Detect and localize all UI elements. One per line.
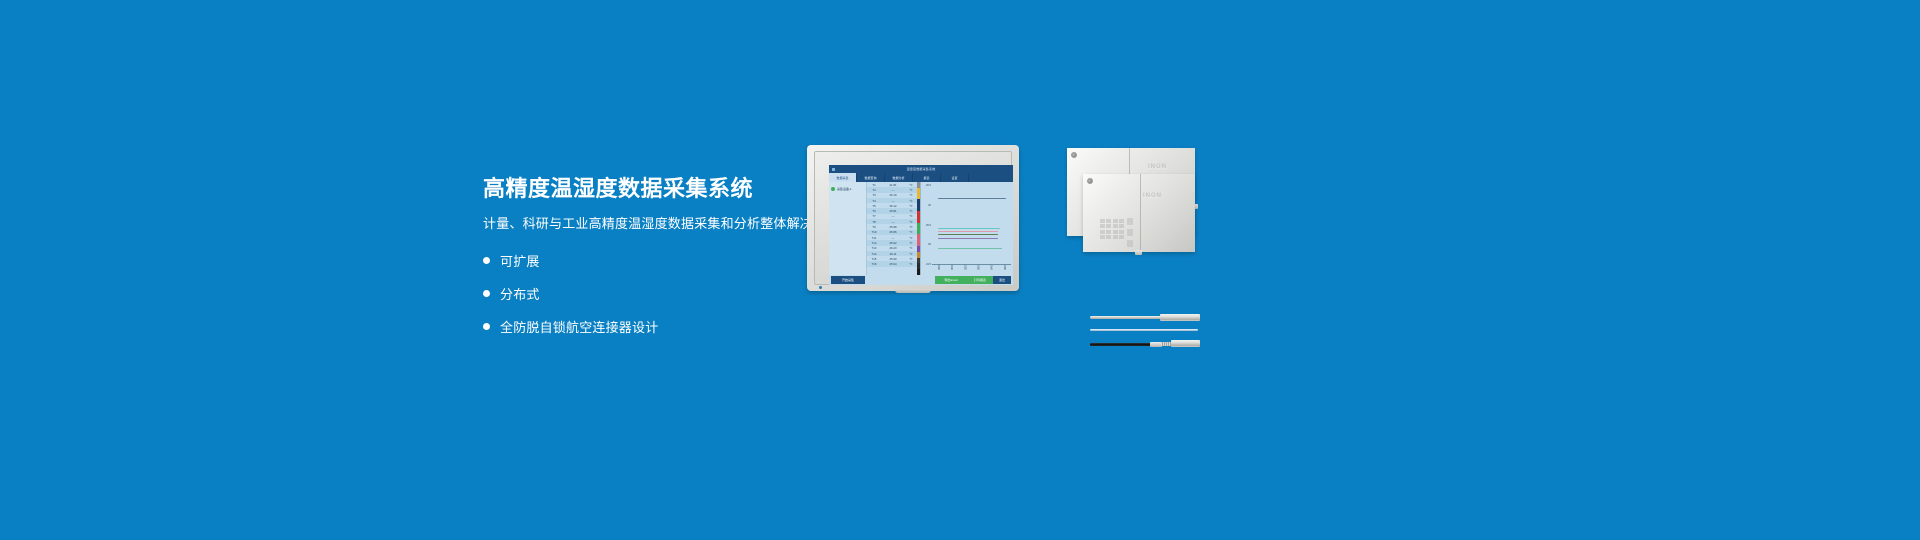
probe-rod — [1090, 316, 1164, 319]
cell-unit: ℃ — [905, 262, 917, 266]
cell-channel: T5 — [867, 204, 881, 208]
cabled-sensor-probe — [1090, 340, 1200, 348]
keypad-key — [1100, 219, 1105, 223]
start-acquisition-button[interactable]: 开始采集 — [831, 276, 865, 284]
cell-channel: T9 — [867, 225, 881, 229]
cell-unit: ℃ — [905, 199, 917, 203]
keypad-key — [1106, 230, 1111, 234]
probe-tip — [1160, 314, 1200, 321]
app-titlebar: 温湿度数据采集系统 — [829, 165, 1013, 173]
cell-value: 25.94 — [881, 262, 905, 266]
probe-cable — [1090, 343, 1154, 346]
cell-channel: T14 — [867, 252, 881, 256]
table-row[interactable]: T1225.92℃ — [867, 240, 917, 245]
cell-value: 25.81 — [881, 209, 905, 213]
keypad-key — [1106, 235, 1111, 239]
enclosure-seam — [1140, 174, 1141, 252]
cell-value: --- — [881, 214, 905, 218]
cell-unit: ℃ — [905, 225, 917, 229]
table-row[interactable]: T2---℃ — [867, 187, 917, 192]
table-row[interactable]: T1025.86℃ — [867, 230, 917, 235]
industrial-panel-monitor: 温湿度数据采集系统 数据采集 数据查询 数据分析 报表 设置 采 — [807, 145, 1021, 295]
cell-value: 26.11 — [881, 252, 905, 256]
trend-line-T3 — [938, 228, 1000, 229]
cell-unit: ℃ — [905, 246, 917, 250]
x-tick-label: 10:00 — [937, 265, 940, 275]
trend-line-T12 — [938, 248, 1001, 249]
tab-data-analysis[interactable]: 数据分析 — [885, 173, 913, 182]
feature-label: 全防脱自锁航空连接器设计 — [500, 317, 658, 336]
bullet-dot-icon — [483, 290, 490, 297]
cell-channel: T11 — [867, 236, 881, 240]
print-report-button[interactable]: 打印报表 — [967, 276, 993, 284]
exit-button[interactable]: 退出 — [993, 276, 1011, 284]
y-tick-label: 26.5 — [922, 184, 931, 187]
keypad-key — [1100, 230, 1105, 234]
export-excel-button[interactable]: 导出Excel — [935, 276, 967, 284]
cell-unit: ℃ — [905, 188, 917, 192]
app-window-title: 温湿度数据采集系统 — [829, 167, 1013, 171]
screw-icon — [1087, 178, 1093, 184]
keypad-key — [1113, 235, 1118, 239]
trend-line-T5 — [938, 231, 998, 232]
cell-channel: T8 — [867, 220, 881, 224]
monitor-outer-bezel: 温湿度数据采集系统 数据采集 数据查询 数据分析 报表 设置 采 — [807, 145, 1019, 291]
table-row[interactable]: T625.81℃ — [867, 208, 917, 213]
feature-label: 分布式 — [500, 284, 540, 303]
enclosure-port — [1127, 218, 1133, 225]
trend-line-T9 — [938, 238, 998, 239]
enclosure-port-group — [1127, 218, 1133, 247]
device-tree-node[interactable]: 采集设备-1 — [829, 186, 866, 192]
keypad-key — [1119, 230, 1124, 234]
bullet-dot-icon — [483, 257, 490, 264]
table-row[interactable]: T1625.94℃ — [867, 261, 917, 266]
cell-unit: ℃ — [905, 183, 917, 187]
trend-chart: 26.52625.52524.5 10:0010:1010:2010:3010:… — [920, 182, 1013, 275]
keypad-key — [1113, 219, 1118, 223]
enclosure-port — [1127, 229, 1133, 236]
tab-data-acquisition[interactable]: 数据采集 — [829, 173, 857, 182]
y-tick-label: 25.5 — [922, 224, 931, 227]
chart-x-axis: 10:0010:1010:2010:3010:4010:50 — [932, 265, 1011, 275]
cell-channel: T10 — [867, 230, 881, 234]
cell-channel: T16 — [867, 262, 881, 266]
cell-value: 26.19 — [881, 193, 905, 197]
device-tree-label: 采集设备-1 — [837, 187, 852, 191]
cell-channel: T7 — [867, 214, 881, 218]
keypad-key — [1119, 224, 1124, 228]
tab-settings[interactable]: 设置 — [941, 173, 969, 182]
cell-unit: ℃ — [905, 214, 917, 218]
app-tabbar: 数据采集 数据查询 数据分析 报表 设置 — [829, 173, 1013, 182]
cell-value: 25.86 — [881, 230, 905, 234]
y-tick-label: 26 — [922, 204, 931, 207]
enclosure-keypad — [1100, 219, 1124, 239]
table-row[interactable]: T8---℃ — [867, 219, 917, 224]
cell-channel: T15 — [867, 257, 881, 261]
cell-unit: ℃ — [905, 220, 917, 224]
keypad-key — [1113, 224, 1118, 228]
cell-value: 26.12 — [881, 204, 905, 208]
chart-y-axis: 26.52625.52524.5 — [922, 184, 931, 266]
x-tick-label: 10:40 — [990, 265, 993, 275]
table-row[interactable]: T7---℃ — [867, 214, 917, 219]
cell-value: --- — [881, 236, 905, 240]
trend-line-T6 — [938, 234, 998, 235]
cell-value: 21.81 — [881, 183, 905, 187]
cell-unit: ℃ — [905, 257, 917, 261]
table-row[interactable]: T326.19℃ — [867, 193, 917, 198]
cell-unit: ℃ — [905, 230, 917, 234]
table-row[interactable]: T121.81℃ — [867, 182, 917, 187]
cell-channel: T6 — [867, 209, 881, 213]
feature-item-2: 全防脱自锁航空连接器设计 — [483, 317, 953, 336]
datalogger-enclosure-front: INON — [1083, 174, 1195, 252]
enclosure-connector — [1135, 250, 1142, 255]
cell-channel: T1 — [867, 183, 881, 187]
power-led-icon — [819, 286, 822, 289]
cell-value: --- — [881, 220, 905, 224]
keypad-key — [1106, 219, 1111, 223]
x-tick-label: 10:30 — [977, 265, 980, 275]
enclosure-port — [1127, 240, 1133, 247]
table-row[interactable]: T526.12℃ — [867, 203, 917, 208]
x-tick-label: 10:10 — [950, 265, 953, 275]
cell-value: 25.92 — [881, 241, 905, 245]
probe-rod-thin — [1090, 329, 1198, 331]
keypad-key — [1113, 230, 1118, 234]
keypad-key — [1100, 235, 1105, 239]
y-tick-label: 25 — [922, 243, 931, 246]
tab-data-query[interactable]: 数据查询 — [857, 173, 885, 182]
cell-channel: T2 — [867, 188, 881, 192]
keypad-key — [1106, 224, 1111, 228]
table-row[interactable]: T1326.20℃ — [867, 246, 917, 251]
cell-unit: ℃ — [905, 204, 917, 208]
table-row[interactable]: T1426.11℃ — [867, 251, 917, 256]
temperature-probe-stainless — [1090, 314, 1200, 320]
hero-banner: 高精度温湿度数据采集系统 计量、科研与工业高精度温湿度数据采集和分析整体解决方案… — [0, 0, 1920, 540]
monitor-screen: 温湿度数据采集系统 数据采集 数据查询 数据分析 报表 设置 采 — [829, 165, 1013, 285]
probe-tip — [1171, 340, 1200, 347]
cell-unit: ℃ — [905, 241, 917, 245]
device-status-icon — [831, 187, 835, 191]
monitor-inner-bezel: 温湿度数据采集系统 数据采集 数据查询 数据分析 报表 设置 采 — [814, 151, 1012, 285]
cell-value: 25.98 — [881, 225, 905, 229]
cell-unit: ℃ — [905, 252, 917, 256]
cell-unit: ℃ — [905, 193, 917, 197]
cell-unit: ℃ — [905, 209, 917, 213]
table-row[interactable]: T11---℃ — [867, 235, 917, 240]
monitor-stand — [895, 289, 931, 293]
trend-line-T1 — [938, 198, 1006, 199]
cell-channel: T4 — [867, 199, 881, 203]
device-tree-panel: 采集设备-1 — [829, 182, 867, 275]
brand-logo-back: INON — [1148, 164, 1167, 170]
channel-table: T121.81℃T2---℃T326.19℃T4---℃T526.12℃T625… — [867, 182, 917, 275]
cell-channel: T3 — [867, 193, 881, 197]
keypad-key — [1119, 219, 1124, 223]
table-row[interactable]: T1525.90℃ — [867, 256, 917, 261]
cell-value: --- — [881, 199, 905, 203]
chart-plot-area — [932, 184, 1011, 265]
cell-value: 26.20 — [881, 246, 905, 250]
feature-label: 可扩展 — [500, 251, 540, 270]
tab-report[interactable]: 报表 — [913, 173, 941, 182]
cell-channel: T12 — [867, 241, 881, 245]
cell-unit: ℃ — [905, 236, 917, 240]
bullet-dot-icon — [483, 323, 490, 330]
table-row[interactable]: T925.98℃ — [867, 224, 917, 229]
screw-icon — [1071, 152, 1077, 158]
keypad-key — [1100, 224, 1105, 228]
app-body: 采集设备-1 T121.81℃T2---℃T326.19℃T4---℃T526.… — [829, 182, 1013, 275]
y-tick-label: 24.5 — [922, 263, 931, 266]
humidity-probe-slim — [1090, 328, 1198, 332]
x-tick-label: 10:20 — [963, 265, 966, 275]
cell-channel: T13 — [867, 246, 881, 250]
brand-logo-front: INON — [1143, 193, 1162, 199]
table-row[interactable]: T4---℃ — [867, 198, 917, 203]
cell-value: 25.90 — [881, 257, 905, 261]
keypad-key — [1119, 235, 1124, 239]
cell-value: --- — [881, 188, 905, 192]
app-footer-toolbar: 开始采集 导出Excel 打印报表 退出 — [829, 275, 1013, 285]
x-tick-label: 10:50 — [1003, 265, 1006, 275]
